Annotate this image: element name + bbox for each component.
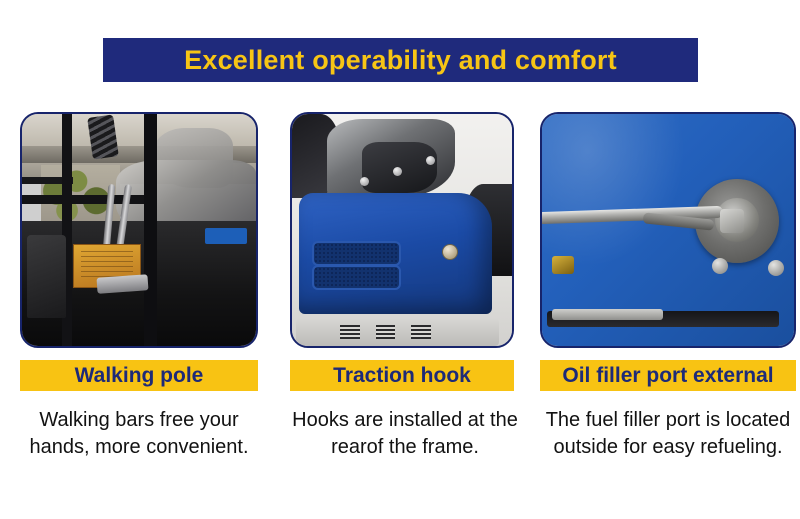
feature-panel-walking-pole: Walking pole Walking bars free your hand… xyxy=(20,112,258,461)
photo-frame-traction-hook xyxy=(290,112,514,348)
page-title: Excellent operability and comfort xyxy=(184,47,617,74)
bolt-icon xyxy=(426,156,435,165)
screw-icon xyxy=(768,260,784,276)
cab-post-center xyxy=(144,114,157,346)
brass-fitting xyxy=(552,256,574,274)
metal-lip xyxy=(552,309,663,321)
label-bar-oil-filler-port: Oil filler port external xyxy=(540,360,796,391)
photo-traction-hook xyxy=(292,114,512,346)
cab-rail xyxy=(22,195,153,204)
undercarriage-base xyxy=(296,318,498,346)
cowl-latch-cap xyxy=(442,244,458,260)
vent-slot xyxy=(340,325,360,339)
coil-spring xyxy=(87,115,119,160)
feature-panel-oil-filler-port: Oil filler port external The fuel filler… xyxy=(540,112,796,461)
header-banner: Excellent operability and comfort xyxy=(103,38,698,82)
vent-slot xyxy=(376,325,396,339)
vent-slot xyxy=(411,325,431,339)
description-traction-hook: Hooks are installed at the rearof the fr… xyxy=(290,407,520,461)
photo-frame-walking-pole xyxy=(20,112,258,348)
description-walking-pole: Walking bars free your hands, more conve… xyxy=(10,407,268,461)
bolt-icon xyxy=(360,177,369,186)
photo-walking-pole xyxy=(22,114,256,346)
photo-frame-oil-filler-port xyxy=(540,112,796,348)
cowl-grille-lower xyxy=(312,265,401,290)
paint-sheen xyxy=(542,114,693,276)
label-text-walking-pole: Walking pole xyxy=(75,365,204,386)
blue-engine-cowl xyxy=(299,193,493,314)
operator-seat xyxy=(27,235,67,319)
feature-panel-traction-hook: Traction hook Hooks are installed at the… xyxy=(290,112,514,461)
hex-nut xyxy=(720,209,744,233)
label-text-oil-filler-port: Oil filler port external xyxy=(562,365,773,386)
feature-panels: Walking pole Walking bars free your hand… xyxy=(0,112,800,512)
label-bar-walking-pole: Walking pole xyxy=(20,360,258,391)
cowl-grille-upper xyxy=(312,241,401,266)
blue-accent-part xyxy=(205,228,247,244)
label-text-traction-hook: Traction hook xyxy=(333,365,471,386)
label-bar-traction-hook: Traction hook xyxy=(290,360,514,391)
description-oil-filler-port: The fuel filler port is located outside … xyxy=(540,407,796,461)
photo-oil-filler-port xyxy=(542,114,794,346)
